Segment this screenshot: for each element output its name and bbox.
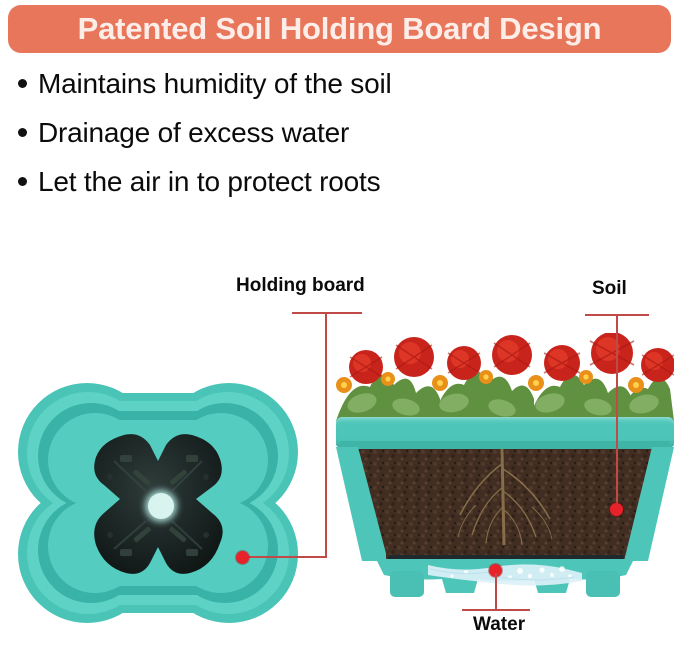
planter-cross-section <box>336 333 674 605</box>
list-item: Drainage of excess water <box>18 115 658 151</box>
product-diagram: Holding board Soil Water <box>0 255 679 646</box>
callout-connector-stem-soil <box>616 314 618 510</box>
soil-holding-board-part <box>80 431 236 581</box>
bullet-icon <box>18 79 27 88</box>
callout-label-soil: Soil <box>592 278 627 300</box>
callout-marker-soil <box>610 503 623 516</box>
callout-label-holding-board: Holding board <box>236 275 365 297</box>
callout-marker-holding-board <box>236 551 249 564</box>
soil-layer <box>336 449 674 559</box>
feature-text: Drainage of excess water <box>38 115 349 151</box>
callout-connector-stem-holding-board <box>325 312 327 557</box>
bullet-icon <box>18 128 27 137</box>
callout-connector-arm-holding-board <box>248 556 327 558</box>
quatrefoil-planter-top-view <box>18 383 298 623</box>
drain-hole-icon <box>148 493 174 519</box>
list-item: Maintains humidity of the soil <box>18 66 658 102</box>
reservoir-base <box>370 559 640 599</box>
page-title: Patented Soil Holding Board Design <box>78 11 602 47</box>
flower-bed <box>336 333 674 421</box>
feature-text: Let the air in to protect roots <box>38 164 380 200</box>
callout-connector-stem-water <box>495 573 497 610</box>
feature-list: Maintains humidity of the soil Drainage … <box>18 66 658 212</box>
bullet-icon <box>18 177 27 186</box>
callout-connector-bar-holding-board <box>292 312 362 314</box>
callout-label-water: Water <box>473 614 525 636</box>
callout-connector-bar-water <box>462 609 530 611</box>
list-item: Let the air in to protect roots <box>18 164 658 200</box>
feature-text: Maintains humidity of the soil <box>38 66 392 102</box>
header-banner: Patented Soil Holding Board Design <box>8 5 671 53</box>
